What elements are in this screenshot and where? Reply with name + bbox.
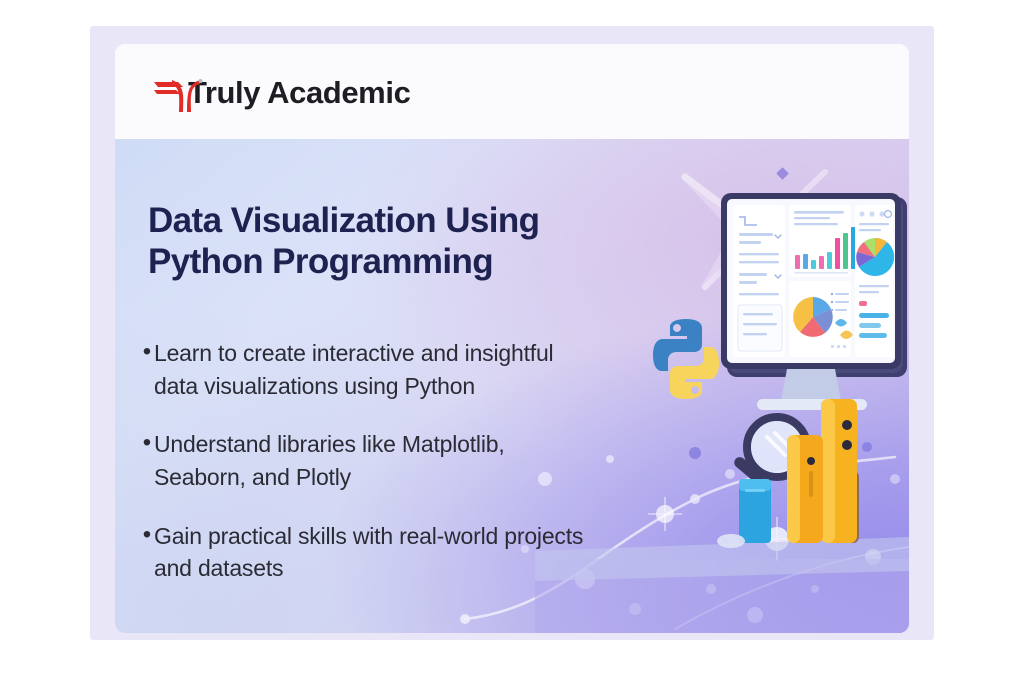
python-logo-icon (653, 319, 719, 399)
slide-body: Data Visualization Using Python Programm… (115, 139, 909, 633)
bullet-list: • Learn to create interactive and insigh… (140, 337, 585, 611)
truly-academic-mark-icon (152, 72, 204, 114)
data-visualization-illustration (535, 189, 909, 633)
bullet-marker-icon: • (140, 427, 154, 459)
list-item: • Gain practical skills with real-world … (140, 520, 585, 585)
brand-name: Truly Academic (188, 75, 410, 111)
bullet-marker-icon: • (140, 519, 154, 551)
slide-header: Truly Academic (115, 44, 909, 139)
diamond-decoration (776, 167, 789, 180)
dashboard-pie-chart-lower (793, 297, 833, 337)
slide-page: Truly Academic (0, 0, 1024, 683)
page-title: Data Visualization Using Python Programm… (148, 201, 578, 283)
bullet-text: Gain practical skills with real-world pr… (154, 520, 585, 585)
brand-logo[interactable]: Truly Academic (152, 72, 410, 114)
bullet-text: Understand libraries like Matplotlib, Se… (154, 428, 585, 493)
list-item: • Learn to create interactive and insigh… (140, 337, 585, 402)
slide-card: Truly Academic (115, 44, 909, 633)
list-item: • Understand libraries like Matplotlib, … (140, 428, 585, 493)
bullet-text: Learn to create interactive and insightf… (154, 337, 585, 402)
bullet-marker-icon: • (140, 336, 154, 368)
dashboard-screen (733, 205, 894, 357)
